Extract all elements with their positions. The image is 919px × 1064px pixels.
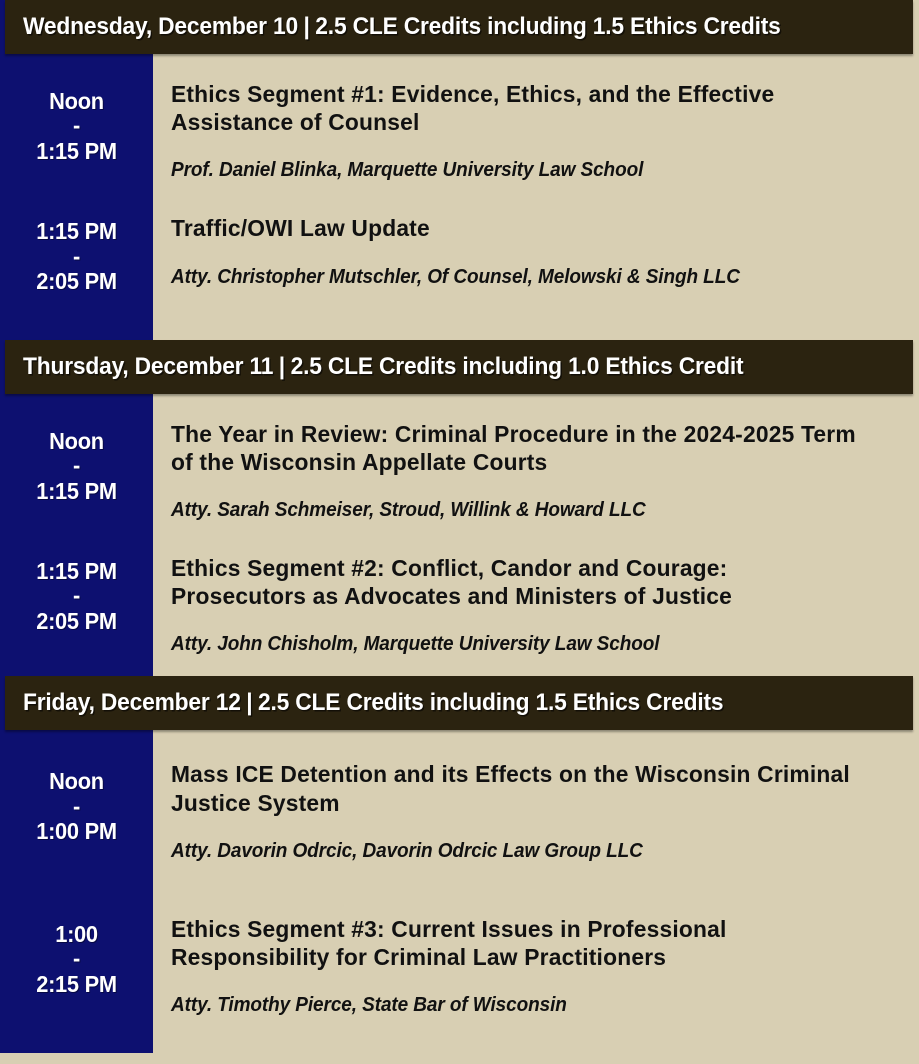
day-block-spacer <box>0 297 919 327</box>
session-time: Noon - 1:00 PM <box>4 730 149 846</box>
session-row: 1:00 - 2:15 PM Ethics Segment #3: Curren… <box>0 869 919 1023</box>
session-time-dash: - <box>4 586 149 606</box>
day-header-text: Friday, December 12|2.5 CLE Credits incl… <box>23 689 723 717</box>
session-time-dash: - <box>4 456 149 476</box>
session-row: 1:15 PM - 2:05 PM Traffic/OWI Law Update… <box>0 188 919 296</box>
day-date-label: Friday, December 12 <box>23 689 241 716</box>
session-list-wednesday: Noon - 1:15 PM Ethics Segment #1: Eviden… <box>0 54 919 297</box>
day-block-wednesday: Wednesday, December 10|2.5 CLE Credits i… <box>0 0 919 327</box>
session-start-time: 1:00 <box>55 921 98 947</box>
day-header-separator: | <box>298 13 315 41</box>
session-body: Traffic/OWI Law Update Atty. Christopher… <box>153 188 919 294</box>
session-speaker: Atty. Timothy Pierce, State Bar of Wisco… <box>171 993 849 1017</box>
session-speaker: Atty. Christopher Mutschler, Of Counsel,… <box>171 265 849 289</box>
day-header-friday: Friday, December 12|2.5 CLE Credits incl… <box>5 676 913 730</box>
day-header-thursday: Thursday, December 11|2.5 CLE Credits in… <box>5 340 913 394</box>
session-speaker: Prof. Daniel Blinka, Marquette Universit… <box>171 158 849 182</box>
day-block-thursday: Thursday, December 11|2.5 CLE Credits in… <box>0 327 919 677</box>
day-header-text: Thursday, December 11|2.5 CLE Credits in… <box>23 353 743 381</box>
session-end-time: 2:15 PM <box>36 971 117 997</box>
session-end-time: 2:05 PM <box>36 608 117 634</box>
session-end-time: 1:00 PM <box>36 818 117 844</box>
session-title: Ethics Segment #3: Current Issues in Pro… <box>171 915 864 971</box>
session-time-dash: - <box>4 797 149 817</box>
session-time-dash: - <box>4 949 149 969</box>
cle-schedule: Wednesday, December 10|2.5 CLE Credits i… <box>0 0 919 1064</box>
session-start-time: Noon <box>49 768 104 794</box>
session-body: Ethics Segment #2: Conflict, Candor and … <box>153 528 919 662</box>
session-title: Ethics Segment #2: Conflict, Candor and … <box>171 554 864 610</box>
session-end-time: 2:05 PM <box>36 268 117 294</box>
day-header-text: Wednesday, December 10|2.5 CLE Credits i… <box>23 13 781 41</box>
session-time: Noon - 1:15 PM <box>4 394 149 506</box>
session-title: Mass ICE Detention and its Effects on th… <box>171 760 864 816</box>
session-end-time: 1:15 PM <box>36 138 117 164</box>
session-start-time: Noon <box>49 428 104 454</box>
session-row: Noon - 1:15 PM Ethics Segment #1: Eviden… <box>0 54 919 188</box>
day-date-label: Thursday, December 11 <box>23 353 273 380</box>
day-credits-label: 2.5 CLE Credits including 1.5 Ethics Cre… <box>315 13 780 40</box>
day-credits-label: 2.5 CLE Credits including 1.5 Ethics Cre… <box>258 689 723 716</box>
session-row: Noon - 1:00 PM Mass ICE Detention and it… <box>0 730 919 868</box>
session-start-time: Noon <box>49 88 104 114</box>
session-speaker: Atty. John Chisholm, Marquette Universit… <box>171 632 849 656</box>
day-block-friday: Friday, December 12|2.5 CLE Credits incl… <box>0 676 919 1053</box>
day-block-spacer <box>0 662 919 676</box>
session-start-time: 1:15 PM <box>36 558 117 584</box>
session-end-time: 1:15 PM <box>36 478 117 504</box>
session-body: Mass ICE Detention and its Effects on th… <box>153 730 919 868</box>
session-list-thursday: Noon - 1:15 PM The Year in Review: Crimi… <box>0 394 919 663</box>
day-block-spacer <box>0 1023 919 1053</box>
session-speaker: Atty. Davorin Odrcic, Davorin Odrcic Law… <box>171 839 849 863</box>
day-header-wednesday: Wednesday, December 10|2.5 CLE Credits i… <box>5 0 913 54</box>
session-title: The Year in Review: Criminal Procedure i… <box>171 420 864 476</box>
session-body: The Year in Review: Criminal Procedure i… <box>153 394 919 528</box>
session-time: 1:15 PM - 2:05 PM <box>4 188 149 296</box>
session-body: Ethics Segment #3: Current Issues in Pro… <box>153 869 919 1023</box>
day-credits-label: 2.5 CLE Credits including 1.0 Ethics Cre… <box>291 353 744 380</box>
session-time-dash: - <box>4 116 149 136</box>
session-time: Noon - 1:15 PM <box>4 54 149 166</box>
day-header-separator: | <box>241 689 258 717</box>
session-list-friday: Noon - 1:00 PM Mass ICE Detention and it… <box>0 730 919 1023</box>
session-time-dash: - <box>4 247 149 267</box>
session-time: 1:00 - 2:15 PM <box>4 869 149 999</box>
session-title: Traffic/OWI Law Update <box>171 214 864 242</box>
session-time: 1:15 PM - 2:05 PM <box>4 528 149 636</box>
session-row: 1:15 PM - 2:05 PM Ethics Segment #2: Con… <box>0 528 919 662</box>
session-start-time: 1:15 PM <box>36 218 117 244</box>
day-date-label: Wednesday, December 10 <box>23 13 298 40</box>
header-spacer-top <box>0 327 919 340</box>
session-body: Ethics Segment #1: Evidence, Ethics, and… <box>153 54 919 188</box>
session-title: Ethics Segment #1: Evidence, Ethics, and… <box>171 80 864 136</box>
day-header-separator: | <box>273 353 290 381</box>
session-speaker: Atty. Sarah Schmeiser, Stroud, Willink &… <box>171 498 849 522</box>
session-row: Noon - 1:15 PM The Year in Review: Crimi… <box>0 394 919 528</box>
